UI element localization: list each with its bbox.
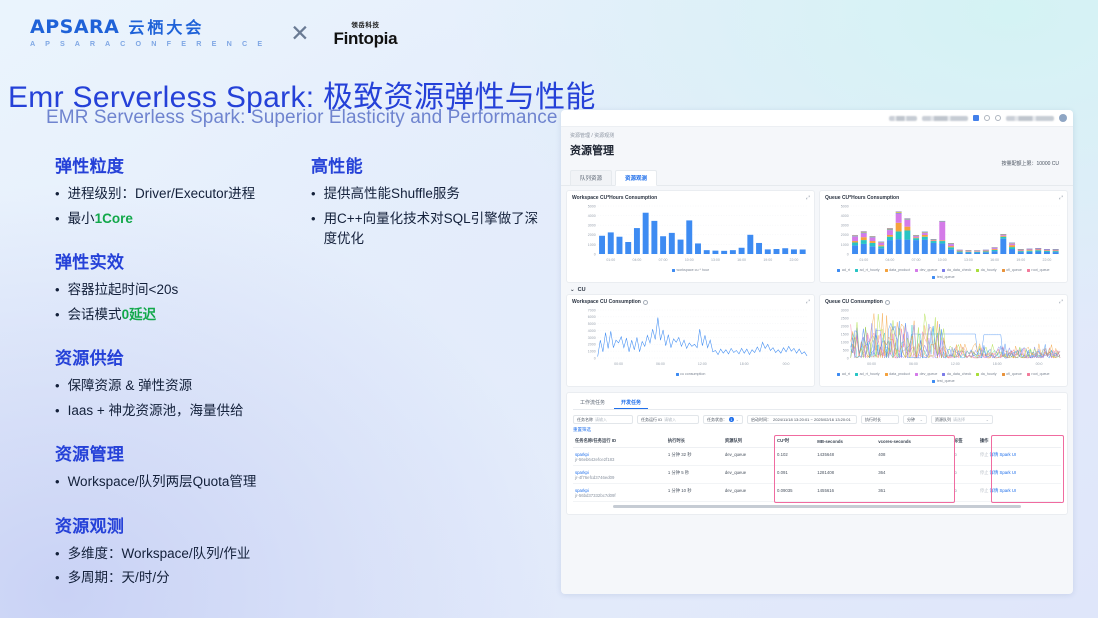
breadcrumb: 资源管理 / 资源观测 — [561, 127, 1073, 139]
chart-workspace-cu: 0100020003000400050006000700000:0006:001… — [572, 306, 809, 370]
copy-icon[interactable] — [973, 115, 979, 121]
console-top-nav — [561, 110, 1073, 127]
bullet-item: •Workspace/队列两层Quota管理 — [55, 472, 305, 493]
legend-item[interactable]: da_data_check — [942, 268, 971, 272]
bullet-item: •Iaas + 神龙资源池，海量供给 — [55, 401, 305, 422]
filter-field[interactable]: 任务状态：1⌄ — [703, 415, 743, 424]
bullet-dot-icon: • — [311, 209, 316, 250]
filter-label: 分钟 — [907, 417, 915, 423]
bullet-text: 多维度：Workspace/队列/作业 — [68, 544, 251, 565]
detail-link[interactable]: 详情 — [990, 488, 1000, 493]
svg-text:01:00: 01:00 — [606, 258, 615, 262]
job-mb-seconds-cell: 1455616 — [815, 484, 876, 502]
bullet-group-heading: 资源观测 — [55, 512, 305, 537]
jobs-table: 任务名称/任务运行 ID执行时长资源队列CU*时MB-secondsvcores… — [573, 435, 1061, 502]
svg-text:2000: 2000 — [588, 343, 596, 347]
svg-text:4000: 4000 — [588, 329, 596, 333]
tag-icon[interactable]: ↻ — [952, 466, 978, 484]
nav-workspace-selector[interactable] — [922, 116, 968, 121]
spark-ui-link[interactable]: Spark UI — [999, 452, 1016, 457]
legend-item[interactable]: test_queue — [932, 379, 954, 383]
bullet-dot-icon: • — [55, 376, 60, 397]
job-vcores-seconds-cell: 364 — [876, 466, 952, 484]
svg-text:10:00: 10:00 — [938, 258, 947, 262]
bullet-dot-icon: • — [55, 472, 60, 493]
svg-text:18:00: 18:00 — [993, 362, 1002, 366]
legend-swatch — [932, 276, 935, 279]
bullet-item: •多维度：Workspace/队列/作业 — [55, 544, 305, 565]
job-name-cell[interactable]: sparkpijr-56eb642efce2f183 — [573, 448, 666, 466]
legend-item[interactable]: dev_queue — [915, 268, 937, 272]
legend-label: ad_rt_hourly — [860, 268, 880, 272]
card-title-text: Queue CU Consumption — [825, 299, 883, 305]
apsara-chinese-name: 云栖大会 — [128, 21, 204, 37]
svg-text:1000: 1000 — [841, 340, 849, 344]
bullet-group-heading: 资源供给 — [55, 344, 305, 369]
bullet-text: 提供高性能Shuffle服务 — [324, 184, 460, 205]
section-header-cu[interactable]: ⌄ CU — [561, 283, 1073, 294]
quota-label: 按量配额上限：10000 CU — [561, 158, 1073, 167]
filter-value: 2024/11/18 13:20:01 ~ 2025/02/16 13:20:0… — [773, 417, 851, 422]
svg-text:00:00: 00:00 — [867, 362, 876, 366]
svg-text:5000: 5000 — [841, 204, 849, 208]
job-queue-cell: dev_queue — [723, 448, 775, 466]
legend-item[interactable]: root_queue — [1027, 372, 1050, 376]
horizontal-scrollbar[interactable] — [613, 505, 1021, 508]
expand-icon[interactable]: ⤢ — [1059, 195, 1063, 201]
logo-bar: APSARA 云栖大会 A P S A R A C O N F E R E N … — [30, 18, 397, 48]
bullet-group: 高性能•提供高性能Shuffle服务•用C++向量化技术对SQL引擎做了深度优化 — [311, 152, 541, 250]
bullet-highlight: 0延迟 — [122, 307, 157, 322]
table-header-cell: 标签 — [952, 435, 978, 448]
svg-text:3000: 3000 — [588, 336, 596, 340]
table-header-cell: CU*时 — [775, 435, 815, 448]
legend-label: ad_rt — [842, 268, 850, 272]
filter-label: 任务状态： — [707, 417, 727, 423]
svg-text:500: 500 — [843, 348, 849, 352]
job-mb-seconds-cell: 1435648 — [815, 448, 876, 466]
actions-cell: 停止 详情 Spark UI — [978, 484, 1061, 502]
chevron-down-icon[interactable]: ⌄ — [920, 417, 923, 422]
bullet-dot-icon: • — [55, 280, 60, 301]
fintopia-wordmark: Fintopia — [334, 30, 398, 47]
detail-link[interactable]: 详情 — [990, 470, 1000, 475]
svg-text:2000: 2000 — [588, 233, 596, 237]
svg-text:00:0: 00:0 — [1036, 362, 1043, 366]
jobs-tab[interactable]: 工作流任务 — [573, 397, 612, 409]
info-icon[interactable] — [885, 300, 890, 305]
svg-text:3000: 3000 — [841, 224, 849, 228]
refresh-icon[interactable] — [984, 115, 990, 121]
card-title-text: Workspace CU*Hours Consumption — [572, 195, 657, 201]
legend-swatch — [837, 373, 840, 376]
avatar[interactable] — [1059, 114, 1067, 122]
filter-value: 请选择 — [953, 417, 965, 423]
table-row: sparkpijr-4f76efcd3746ed091 分钟 5 秒dev_qu… — [573, 466, 1061, 484]
filter-field[interactable]: 任务名称请输入 — [573, 415, 633, 424]
svg-text:18:00: 18:00 — [740, 362, 749, 366]
expand-icon[interactable]: ⤢ — [1059, 299, 1063, 305]
filter-label: 资源队列 — [935, 417, 951, 423]
legend-item[interactable]: data_product — [885, 372, 910, 376]
bullet-text: 容器拉起时间<20s — [68, 280, 179, 301]
legend-workspace-cu: cu consumption — [572, 370, 809, 376]
legend-label: ad_rt — [842, 372, 850, 376]
legend-swatch — [915, 373, 918, 376]
bullet-group: 弹性粒度•进程级别：Driver/Executor进程•最小1Core — [55, 152, 305, 229]
svg-text:07:00: 07:00 — [659, 258, 668, 262]
bullet-dot-icon: • — [55, 544, 60, 565]
page-title: 资源管理 — [561, 139, 1073, 158]
legend-label: root_queue — [1031, 372, 1049, 376]
legend-swatch — [1002, 373, 1005, 376]
svg-text:01:00: 01:00 — [859, 258, 868, 262]
expand-icon[interactable]: ⤢ — [806, 195, 810, 201]
bullet-item: •提供高性能Shuffle服务 — [311, 184, 541, 205]
chart-queue-cu-hours: 01000200030004000500001:0004:0007:0010:0… — [825, 202, 1062, 266]
card-title-text: Queue CU*Hours Consumption — [825, 195, 899, 201]
svg-text:6000: 6000 — [588, 315, 596, 319]
legend-swatch — [837, 269, 840, 272]
legend-label: da_data_check — [947, 372, 971, 376]
legend-item[interactable]: da_data_check — [942, 372, 971, 376]
legend-item[interactable]: ad_rt_hourly — [855, 372, 879, 376]
console-tab[interactable]: 队列资源 — [570, 170, 612, 185]
svg-text:07:00: 07:00 — [912, 258, 921, 262]
bullet-dot-icon: • — [55, 209, 60, 230]
card-workspace-cu: Workspace CU Consumption ⤢ 0100020003000… — [566, 294, 815, 387]
legend-item[interactable]: cu consumption — [676, 372, 706, 376]
console-tabs: 队列资源资源观测 — [561, 167, 1073, 186]
apsara-tagline: A P S A R A C O N F E R E N C E — [30, 39, 266, 48]
legend-swatch — [1002, 269, 1005, 272]
console-screenshot: 资源管理 / 资源观测 资源管理 按量配额上限：10000 CU 队列资源资源观… — [561, 110, 1073, 594]
legend-workspace-cu-hours: workspace cu * hour — [572, 266, 809, 272]
job-cu-hours-cell: 0.09035 — [775, 484, 815, 502]
svg-text:5000: 5000 — [588, 322, 596, 326]
chevron-down-icon[interactable]: ⌄ — [986, 417, 989, 422]
legend-label: da_hourly — [981, 268, 997, 272]
filter-label: 任务名称 — [577, 417, 593, 423]
legend-label: ofl_queue — [1006, 372, 1022, 376]
legend-item[interactable]: da_hourly — [976, 268, 996, 272]
spark-ui-link[interactable]: Spark UI — [999, 470, 1016, 475]
filter-field[interactable]: 资源队列请选择⌄ — [931, 415, 993, 424]
filter-label: 执行时长 — [865, 417, 881, 423]
bullet-text: Iaas + 神龙资源池，海量供给 — [68, 401, 244, 422]
bullet-highlight: 1Core — [95, 211, 133, 226]
filter-field[interactable]: 启动时间：2024/11/18 13:20:01 ~ 2025/02/16 13… — [747, 415, 857, 424]
filter-value: 请输入 — [595, 417, 607, 423]
svg-text:5000: 5000 — [588, 204, 596, 208]
bullet-item: •会话模式0延迟 — [55, 305, 305, 326]
table-row: sparkpijr-56bd37332bc7d09f1 分钟 10 秒dev_q… — [573, 484, 1061, 502]
legend-item[interactable]: dev_queue — [915, 372, 937, 376]
legend-swatch — [855, 269, 858, 272]
bullet-group: 资源管理•Workspace/队列两层Quota管理 — [55, 440, 305, 493]
job-name-cell[interactable]: sparkpijr-56bd37332bc7d09f — [573, 484, 666, 502]
job-mb-seconds-cell: 1281408 — [815, 466, 876, 484]
bullet-group-heading: 资源管理 — [55, 440, 305, 465]
console-tab[interactable]: 资源观测 — [615, 170, 657, 186]
svg-text:1500: 1500 — [841, 332, 849, 336]
svg-text:19:00: 19:00 — [763, 258, 772, 262]
legend-swatch — [855, 373, 858, 376]
bullet-text: 多周期：天/时/分 — [68, 568, 170, 589]
legend-swatch — [942, 269, 945, 272]
bullet-dot-icon: • — [55, 184, 60, 205]
svg-text:04:00: 04:00 — [632, 258, 641, 262]
job-run-id: jr-56eb642efce2f183 — [575, 457, 664, 462]
info-icon[interactable] — [643, 300, 648, 305]
svg-text:06:00: 06:00 — [909, 362, 918, 366]
svg-text:4000: 4000 — [588, 214, 596, 218]
filter-field[interactable]: 分钟⌄ — [903, 415, 927, 424]
svg-text:12:00: 12:00 — [951, 362, 960, 366]
bullet-item: •多周期：天/时/分 — [55, 568, 305, 589]
svg-text:13:00: 13:00 — [711, 258, 720, 262]
job-cu-hours-cell: 0.091 — [775, 466, 815, 484]
card-title-workspace-cu-hours: Workspace CU*Hours Consumption — [572, 195, 809, 201]
svg-text:1000: 1000 — [588, 243, 596, 247]
reset-filters-link[interactable]: 重置筛选 — [573, 427, 1061, 435]
stop-action: 停止 — [980, 470, 990, 475]
table-header-cell: MB-seconds — [815, 435, 876, 448]
table-header-cell: 资源队列 — [723, 435, 775, 448]
svg-text:19:00: 19:00 — [1016, 258, 1025, 262]
legend-label: root_queue — [1031, 268, 1049, 272]
job-run-id: jr-4f76efcd3746ed09 — [575, 475, 664, 480]
legend-item[interactable]: ad_rt — [837, 372, 850, 376]
filter-value: 请输入 — [664, 417, 676, 423]
card-title-queue-cu-hours: Queue CU*Hours Consumption — [825, 195, 1062, 201]
stop-action: 停止 — [980, 488, 990, 493]
apsara-wordmark: APSARA — [30, 18, 119, 37]
chart-workspace-cu-hours: 01000200030004000500001:0004:0007:0010:0… — [572, 202, 809, 266]
legend-item[interactable]: da_hourly — [976, 372, 996, 376]
card-queue-cu-hours: Queue CU*Hours Consumption ⤢ 01000200030… — [819, 190, 1068, 283]
filter-field[interactable]: 执行时长 — [861, 415, 899, 424]
chevron-down-icon[interactable]: ⌄ — [736, 417, 739, 422]
cross-icon: ✕ — [286, 22, 313, 45]
svg-text:2000: 2000 — [841, 324, 849, 328]
chart-queue-cu: 05001000150020002500300000:0006:0012:001… — [825, 306, 1062, 370]
apsara-logo: APSARA 云栖大会 A P S A R A C O N F E R E N … — [30, 18, 266, 48]
svg-text:0: 0 — [594, 252, 596, 256]
stop-action: 停止 — [980, 452, 990, 457]
legend-swatch — [1027, 269, 1030, 272]
actions-cell: 停止 详情 Spark UI — [978, 466, 1061, 484]
fintopia-logo: 领岳科技 Fintopia — [334, 19, 398, 47]
job-duration-cell: 1 分钟 10 秒 — [666, 484, 723, 502]
legend-item[interactable]: ofl_queue — [1002, 372, 1022, 376]
bullet-dot-icon: • — [311, 184, 316, 205]
bullet-dot-icon: • — [55, 305, 60, 326]
legend-swatch — [672, 269, 675, 272]
bullets-column-left: 弹性粒度•进程级别：Driver/Executor进程•最小1Core弹性实效•… — [55, 152, 305, 608]
job-duration-cell: 1 分钟 5 秒 — [666, 466, 723, 484]
svg-text:7000: 7000 — [588, 308, 596, 312]
bullet-group-heading: 高性能 — [311, 152, 541, 177]
legend-label: test_queue — [937, 275, 955, 279]
card-title-workspace-cu: Workspace CU Consumption — [572, 299, 809, 305]
legend-item[interactable]: workspace cu * hour — [672, 268, 709, 272]
bullet-group: 资源观测•多维度：Workspace/队列/作业•多周期：天/时/分 — [55, 512, 305, 589]
jobs-filters: 任务名称请输入任务运行 ID请输入任务状态：1⌄启动时间：2024/11/18 … — [573, 410, 1061, 427]
bullet-item: •最小1Core — [55, 209, 305, 230]
bullet-text: 保障资源 & 弹性资源 — [68, 376, 193, 397]
legend-swatch — [885, 269, 888, 272]
svg-text:22:00: 22:00 — [790, 258, 799, 262]
svg-text:3000: 3000 — [588, 224, 596, 228]
card-queue-cu: Queue CU Consumption ⤢ 05001000150020002… — [819, 294, 1068, 387]
legend-label: dev_queue — [920, 372, 938, 376]
tag-icon[interactable]: ↻ — [952, 448, 978, 466]
bullet-dot-icon: • — [55, 568, 60, 589]
svg-text:16:00: 16:00 — [737, 258, 746, 262]
bullet-text: 最小1Core — [68, 209, 133, 230]
table-header-cell: 执行时长 — [666, 435, 723, 448]
svg-text:13:00: 13:00 — [964, 258, 973, 262]
jobs-tabs: 工作流任务开发任务 — [573, 397, 1061, 410]
legend-swatch — [976, 269, 979, 272]
svg-text:16:00: 16:00 — [990, 258, 999, 262]
legend-swatch — [915, 269, 918, 272]
svg-text:10:00: 10:00 — [685, 258, 694, 262]
svg-text:2000: 2000 — [841, 233, 849, 237]
job-cu-hours-cell: 0.102 — [775, 448, 815, 466]
legend-label: da_hourly — [981, 372, 997, 376]
svg-text:0: 0 — [594, 356, 596, 360]
filter-count-badge: 1 — [729, 417, 734, 423]
legend-label: ad_rt_hourly — [860, 372, 880, 376]
job-duration-cell: 1 分钟 32 秒 — [666, 448, 723, 466]
table-header-cell: 任务名称/任务运行 ID — [573, 435, 666, 448]
bullet-dot-icon: • — [55, 401, 60, 422]
svg-text:22:00: 22:00 — [1043, 258, 1052, 262]
legend-swatch — [932, 380, 935, 383]
bullet-text: Workspace/队列两层Quota管理 — [68, 472, 257, 493]
job-vcores-seconds-cell: 361 — [876, 484, 952, 502]
table-header-cell: 操作 — [978, 435, 1061, 448]
svg-text:06:00: 06:00 — [656, 362, 665, 366]
svg-text:00:0: 00:0 — [783, 362, 790, 366]
nav-account-name[interactable] — [1006, 116, 1054, 121]
svg-text:2500: 2500 — [841, 316, 849, 320]
bullet-group: 弹性实效•容器拉起时间<20s•会话模式0延迟 — [55, 248, 305, 325]
chevron-down-icon: ⌄ — [570, 287, 575, 293]
svg-text:1000: 1000 — [588, 350, 596, 354]
jobs-tab[interactable]: 开发任务 — [614, 397, 648, 409]
bullet-group-heading: 弹性粒度 — [55, 152, 305, 177]
nav-product-selector[interactable] — [889, 116, 917, 121]
legend-label: ofl_queue — [1006, 268, 1022, 272]
filter-label: 启动时间： — [751, 417, 771, 423]
job-run-id: jr-56bd37332bc7d09f — [575, 493, 664, 498]
table-row: sparkpijr-56eb642efce2f1831 分钟 32 秒dev_q… — [573, 448, 1061, 466]
bullet-group: 资源供给•保障资源 & 弹性资源•Iaas + 神龙资源池，海量供给 — [55, 344, 305, 421]
job-vcores-seconds-cell: 408 — [876, 448, 952, 466]
bullet-item: •进程级别：Driver/Executor进程 — [55, 184, 305, 205]
legend-item[interactable]: data_product — [885, 268, 910, 272]
filter-field[interactable]: 任务运行 ID请输入 — [637, 415, 699, 424]
job-queue-cell: dev_queue — [723, 466, 775, 484]
apsara-logo-top: APSARA 云栖大会 — [30, 18, 266, 37]
legend-item[interactable]: test_queue — [932, 275, 954, 279]
bullet-text: 会话模式0延迟 — [68, 305, 157, 326]
table-header-cell: vcores-seconds — [876, 435, 952, 448]
section-label: CU — [578, 287, 586, 293]
bullet-text: 进程级别：Driver/Executor进程 — [68, 184, 256, 205]
expand-icon[interactable]: ⤢ — [806, 299, 810, 305]
legend-label: test_queue — [937, 379, 955, 383]
legend-item[interactable]: root_queue — [1027, 268, 1050, 272]
job-name-cell[interactable]: sparkpijr-4f76efcd3746ed09 — [573, 466, 666, 484]
bullet-group-heading: 弹性实效 — [55, 248, 305, 273]
fintopia-chinese-name: 领岳科技 — [351, 19, 379, 29]
table-header-row: 任务名称/任务运行 ID执行时长资源队列CU*时MB-secondsvcores… — [573, 435, 1061, 448]
bullet-text: 用C++向量化技术对SQL引擎做了深度优化 — [324, 209, 541, 250]
legend-item[interactable]: ofl_queue — [1002, 268, 1022, 272]
legend-swatch — [676, 373, 679, 376]
legend-item[interactable]: ad_rt_hourly — [855, 268, 879, 272]
table-body: sparkpijr-56eb642efce2f1831 分钟 32 秒dev_q… — [573, 448, 1061, 502]
legend-label: data_product — [889, 372, 910, 376]
svg-text:00:00: 00:00 — [614, 362, 623, 366]
svg-text:12:00: 12:00 — [698, 362, 707, 366]
legend-swatch — [885, 373, 888, 376]
job-queue-cell: dev_queue — [723, 484, 775, 502]
svg-text:0: 0 — [847, 252, 849, 256]
charts-row-hours: Workspace CU*Hours Consumption ⤢ 0100020… — [561, 186, 1073, 283]
detail-link[interactable]: 详情 — [990, 452, 1000, 457]
bullet-item: •用C++向量化技术对SQL引擎做了深度优化 — [311, 209, 541, 250]
tag-icon[interactable]: ↻ — [952, 484, 978, 502]
legend-label: da_data_check — [947, 268, 971, 272]
legend-swatch — [942, 373, 945, 376]
legend-label: data_product — [889, 268, 910, 272]
legend-swatch — [976, 373, 979, 376]
legend-swatch — [1027, 373, 1030, 376]
spark-ui-link[interactable]: Spark UI — [999, 488, 1016, 493]
bullets-column-right: 高性能•提供高性能Shuffle服务•用C++向量化技术对SQL引擎做了深度优化 — [311, 152, 541, 269]
bullet-item: •容器拉起时间<20s — [55, 280, 305, 301]
actions-cell: 停止 详情 Spark UI — [978, 448, 1061, 466]
card-title-text: Workspace CU Consumption — [572, 299, 641, 305]
svg-text:04:00: 04:00 — [885, 258, 894, 262]
bullet-item: •保障资源 & 弹性资源 — [55, 376, 305, 397]
card-title-queue-cu: Queue CU Consumption — [825, 299, 1062, 305]
legend-item[interactable]: ad_rt — [837, 268, 850, 272]
legend-label: cu consumption — [680, 372, 705, 376]
slide-title-en: EMR Serverless Spark: Superior Elasticit… — [46, 107, 558, 129]
svg-text:1000: 1000 — [841, 243, 849, 247]
legend-queue-cu-hours: ad_rtad_rt_hourlydata_productdev_queueda… — [825, 266, 1062, 279]
legend-label: dev_queue — [920, 268, 938, 272]
jobs-panel: 工作流任务开发任务 任务名称请输入任务运行 ID请输入任务状态：1⌄启动时间：2… — [566, 392, 1068, 515]
help-icon[interactable] — [995, 115, 1001, 121]
svg-text:0: 0 — [847, 356, 849, 360]
charts-row-cu: Workspace CU Consumption ⤢ 0100020003000… — [561, 294, 1073, 387]
legend-queue-cu: ad_rtad_rt_hourlydata_productdev_queueda… — [825, 370, 1062, 383]
svg-text:4000: 4000 — [841, 214, 849, 218]
svg-text:3000: 3000 — [841, 308, 849, 312]
card-workspace-cu-hours: Workspace CU*Hours Consumption ⤢ 0100020… — [566, 190, 815, 283]
filter-label: 任务运行 ID — [641, 417, 662, 423]
legend-label: workspace cu * hour — [676, 268, 709, 272]
